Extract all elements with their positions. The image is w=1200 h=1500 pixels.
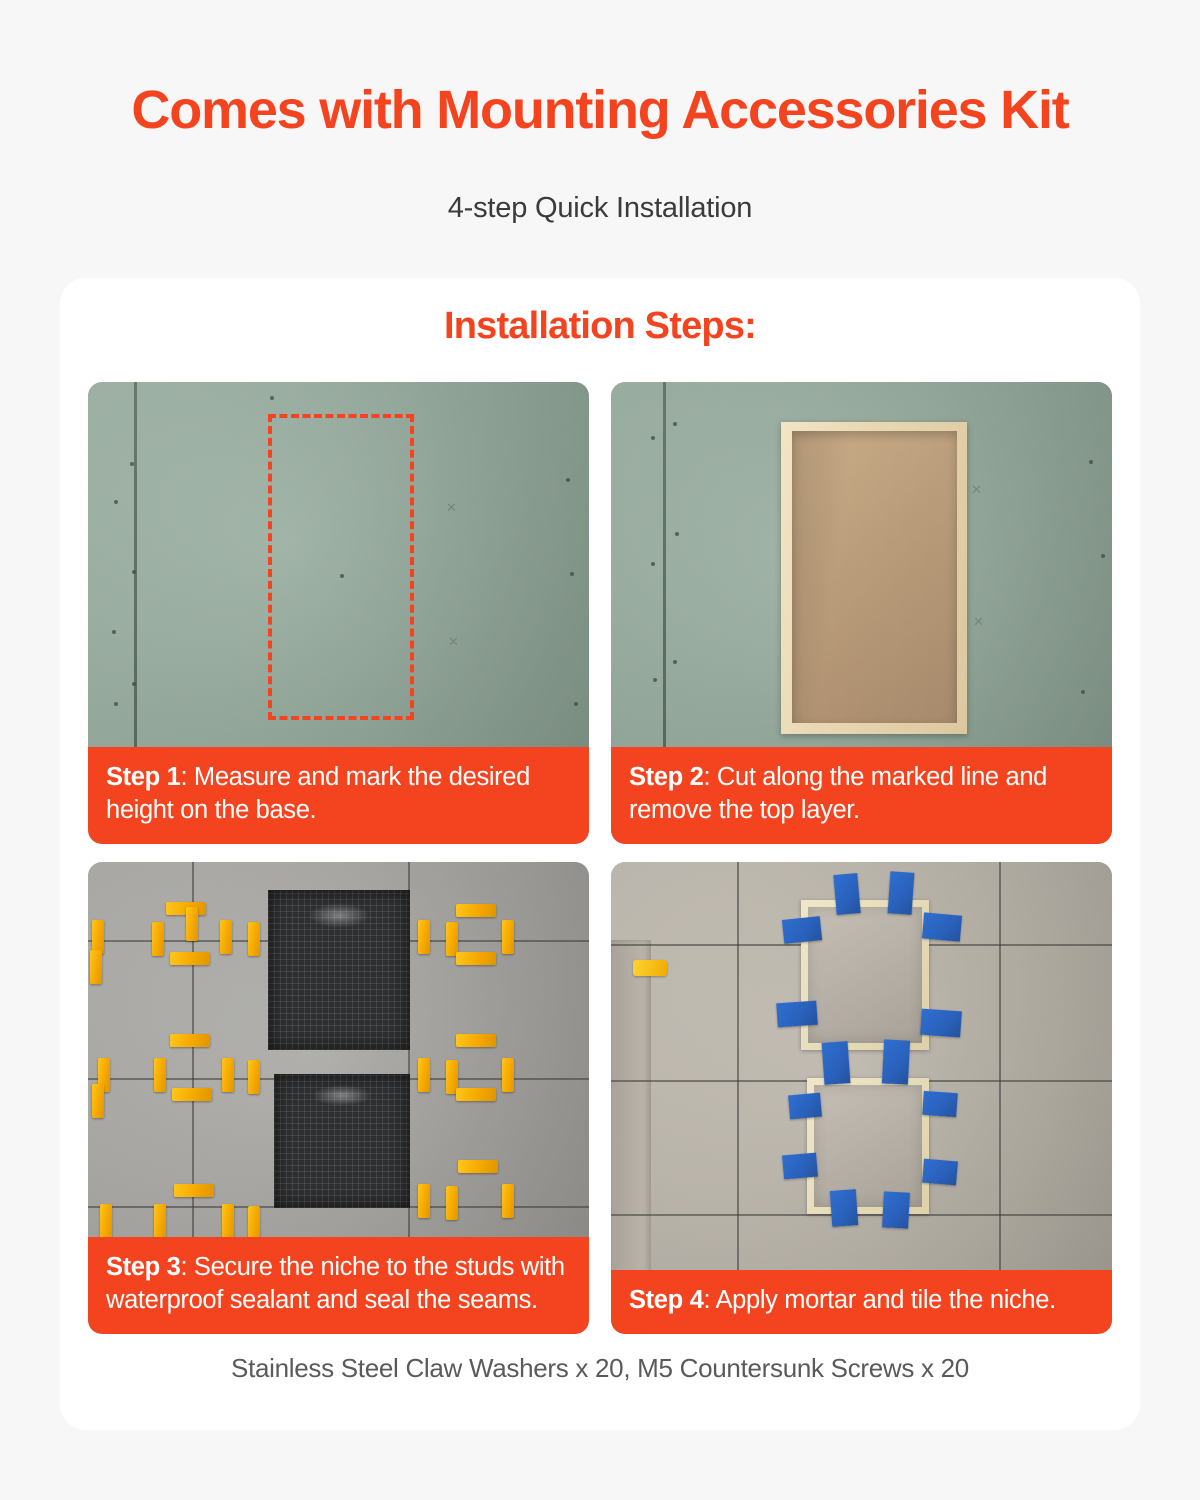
tile-grout-line <box>611 1214 1112 1216</box>
leveling-wedge <box>633 960 667 976</box>
step-4-text: Apply mortar and tile the niche. <box>716 1286 1056 1314</box>
marked-outline-rectangle <box>268 414 414 720</box>
leveling-clip <box>248 1206 260 1240</box>
card-heading: Installation Steps: <box>60 305 1140 348</box>
step-tile-1: ✕ ✕ Step 1: Measure and mark the desired… <box>88 382 589 844</box>
step-tile-3: Step 3: Secure the niche to the studs wi… <box>88 862 589 1334</box>
painters-tape-strip <box>830 1189 858 1227</box>
leveling-clip <box>446 1186 458 1220</box>
leveling-clip <box>100 1204 112 1238</box>
painters-tape-strip <box>882 1039 910 1084</box>
screw-head-icon <box>114 702 118 706</box>
screw-head-icon <box>1081 690 1085 694</box>
wall-scuff-mark: ✕ <box>971 482 982 498</box>
promo-infographic: Comes with Mounting Accessories Kit 4-st… <box>0 0 1200 1500</box>
leveling-clip <box>502 920 514 954</box>
step-2-separator: : <box>703 763 716 791</box>
screw-head-icon <box>651 436 655 440</box>
tiled-niche-lower <box>807 1078 929 1214</box>
installation-steps-card: Installation Steps: <box>60 278 1140 1430</box>
leveling-clip <box>154 1058 166 1092</box>
step-4-separator: : <box>703 1286 715 1314</box>
step-4-photo <box>611 862 1112 1334</box>
painters-tape-strip <box>922 912 962 941</box>
wall-scuff-mark: ✕ <box>448 634 459 650</box>
niche-back-panel <box>792 431 957 723</box>
leveling-clip <box>418 1058 430 1092</box>
screw-head-icon <box>1089 460 1093 464</box>
screw-head-icon <box>114 500 118 504</box>
leveling-clip <box>248 1060 260 1094</box>
leveling-clip <box>458 1160 498 1173</box>
leveling-clip <box>222 1058 234 1092</box>
screw-head-icon <box>112 630 116 634</box>
leveling-clip <box>220 920 232 954</box>
step-2-label: Step 2 <box>629 763 703 791</box>
leveling-clip <box>456 904 496 917</box>
screw-head-icon <box>270 396 274 400</box>
screw-head-icon <box>651 562 655 566</box>
step-1-label: Step 1 <box>106 763 180 791</box>
page-subtitle: 4-step Quick Installation <box>0 192 1200 225</box>
steps-grid: ✕ ✕ Step 1: Measure and mark the desired… <box>88 382 1112 1334</box>
step-tile-4: Step 4: Apply mortar and tile the niche. <box>611 862 1112 1334</box>
niche-box-lower <box>274 1074 410 1208</box>
step-4-label: Step 4 <box>629 1286 703 1314</box>
leveling-clip <box>222 1204 234 1238</box>
leveling-clip <box>172 1088 212 1101</box>
painters-tape-strip <box>922 1159 958 1186</box>
step-3-separator: : <box>180 1253 193 1281</box>
leveling-clip <box>418 920 430 954</box>
screw-head-icon <box>673 422 677 426</box>
leveling-clip <box>154 1204 166 1238</box>
painters-tape-strip <box>782 1153 818 1180</box>
painters-tape-strip <box>782 916 822 944</box>
screw-head-icon <box>673 660 677 664</box>
leveling-clip <box>174 1184 214 1197</box>
painters-tape-strip <box>882 1191 910 1228</box>
painters-tape-strip <box>833 873 860 915</box>
wall-scuff-mark: ✕ <box>973 614 984 630</box>
leveling-clip <box>92 1084 104 1118</box>
leveling-clip <box>456 952 496 965</box>
step-tile-2: ✕ ✕ Step 2: Cut along the marked line an… <box>611 382 1112 844</box>
accessories-note: Stainless Steel Claw Washers x 20, M5 Co… <box>60 1353 1140 1384</box>
step-3-label: Step 3 <box>106 1253 180 1281</box>
wood-frame-opening <box>781 422 967 734</box>
screw-head-icon <box>130 462 134 466</box>
step-1-caption: Step 1: Measure and mark the desired hei… <box>88 747 589 844</box>
painters-tape-strip <box>776 1001 818 1028</box>
leveling-clip <box>502 1184 514 1218</box>
leveling-clip <box>152 922 164 956</box>
screw-head-icon <box>675 532 679 536</box>
wall-scuff-mark: ✕ <box>446 500 457 516</box>
painters-tape-strip <box>822 1041 851 1085</box>
screw-head-icon <box>566 478 570 482</box>
leveling-clip <box>446 922 458 956</box>
leveling-clip <box>92 920 104 954</box>
leveling-clip <box>418 1184 430 1218</box>
leveling-clip <box>90 950 102 984</box>
page-title: Comes with Mounting Accessories Kit <box>0 82 1200 139</box>
step-2-caption: Step 2: Cut along the marked line and re… <box>611 747 1112 844</box>
step-1-separator: : <box>180 763 193 791</box>
niche-box-upper <box>268 890 410 1050</box>
screw-head-icon <box>1101 554 1105 558</box>
leveling-clip <box>248 922 260 956</box>
leveling-clip <box>170 1034 210 1047</box>
leveling-clip <box>170 952 210 965</box>
painters-tape-strip <box>788 1093 822 1120</box>
screw-head-icon <box>653 678 657 682</box>
painters-tape-strip <box>920 1009 962 1038</box>
step-4-caption: Step 4: Apply mortar and tile the niche. <box>611 1270 1112 1334</box>
leveling-clip <box>456 1088 496 1101</box>
tile-grout-line <box>999 862 1001 1334</box>
painters-tape-strip <box>888 871 915 915</box>
screw-head-icon <box>132 682 136 686</box>
tile-grout-line <box>737 862 739 1334</box>
screw-head-icon <box>570 572 574 576</box>
leveling-clip <box>456 1034 496 1047</box>
drywall-edge-trim <box>583 622 589 680</box>
screw-head-icon <box>132 570 136 574</box>
leveling-clip <box>502 1058 514 1092</box>
leveling-clip <box>186 907 198 941</box>
screw-head-icon <box>574 702 578 706</box>
step-3-caption: Step 3: Secure the niche to the studs wi… <box>88 1237 589 1334</box>
painters-tape-strip <box>922 1091 958 1117</box>
